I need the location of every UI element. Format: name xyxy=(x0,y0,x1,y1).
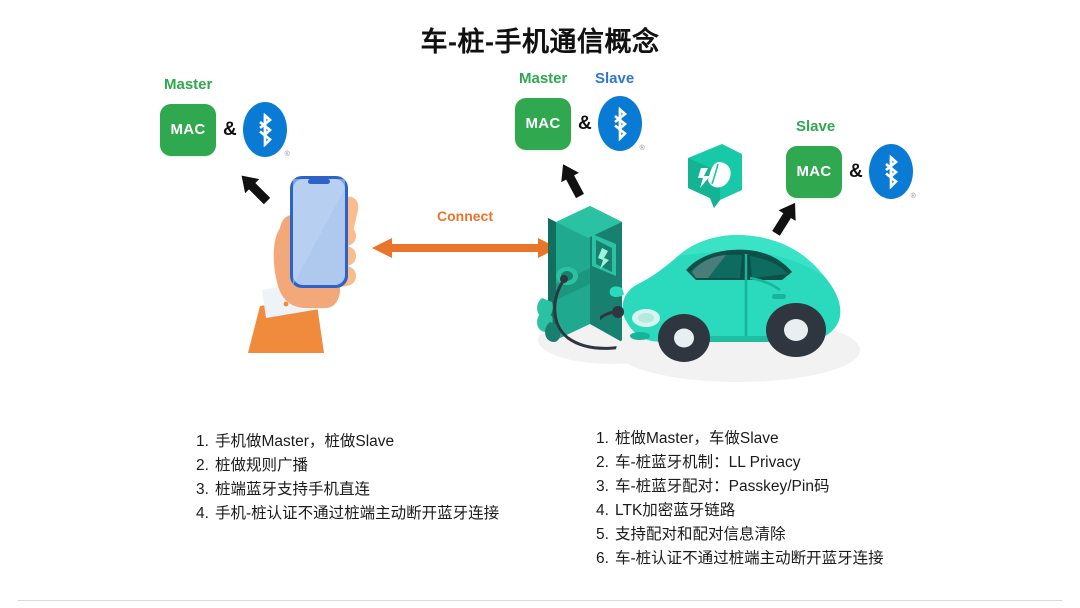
list-item: 2.车-桩蓝牙机制：LL Privacy xyxy=(596,451,884,475)
list-item: 4.LTK加密蓝牙链路 xyxy=(596,499,884,523)
list-item-text: 车-桩蓝牙机制：LL Privacy xyxy=(615,454,800,471)
car-badge-row: MAC & ® xyxy=(786,144,913,199)
list-item-number: 1. xyxy=(196,430,215,454)
connect-indicator: Connect xyxy=(370,208,560,263)
slide-canvas: 车-桩-手机通信概念 Master MAC & ® Master Slave xyxy=(0,0,1080,608)
bluetooth-icon: ® xyxy=(243,102,287,157)
hand-holding-phone-illustration xyxy=(248,168,388,358)
car-mac-label: MAC xyxy=(796,163,831,180)
charger-role-master: Master xyxy=(519,70,567,88)
list-item-text: 桩端蓝牙支持手机直连 xyxy=(215,481,370,498)
registered-mark: ® xyxy=(285,151,290,158)
connect-label: Connect xyxy=(370,208,560,224)
car-mac-box: MAC xyxy=(786,146,842,198)
phone-role-labels: Master xyxy=(160,76,287,96)
list-item: 2.桩做规则广播 xyxy=(196,454,499,478)
list-item-number: 3. xyxy=(196,478,215,502)
list-item: 3.车-桩蓝牙配对：Passkey/Pin码 xyxy=(596,475,884,499)
phone-ampersand: & xyxy=(223,119,237,141)
bluetooth-icon: ® xyxy=(598,96,642,151)
phone-mac-box: MAC xyxy=(160,104,216,156)
list-item: 3.桩端蓝牙支持手机直连 xyxy=(196,478,499,502)
car-badge-group: Slave MAC & ® xyxy=(786,118,913,199)
charger-mac-label: MAC xyxy=(525,115,560,132)
eco-leaf-bolt-badge-icon xyxy=(676,140,750,217)
car-role-labels: Slave xyxy=(786,118,913,138)
list-item-number: 4. xyxy=(596,499,615,523)
bluetooth-icon: ® xyxy=(869,144,913,199)
list-item: 6.车-桩认证不通过桩端主动断开蓝牙连接 xyxy=(596,547,884,571)
bottom-divider xyxy=(18,600,1062,601)
charger-role-labels: Master Slave xyxy=(515,70,642,90)
charger-role-slave: Slave xyxy=(595,70,634,88)
list-item-number: 2. xyxy=(196,454,215,478)
charger-mac-box: MAC xyxy=(515,98,571,150)
list-item-text: 手机做Master，桩做Slave xyxy=(215,433,394,450)
list-item-number: 5. xyxy=(596,523,615,547)
phone-badge-row: MAC & ® xyxy=(160,102,287,157)
page-title: 车-桩-手机通信概念 xyxy=(0,20,1080,59)
charger-badge-group: Master Slave MAC & ® xyxy=(515,70,642,151)
list-item-text: 支持配对和配对信息清除 xyxy=(615,526,786,543)
charger-ampersand: & xyxy=(578,113,592,135)
list-item-number: 1. xyxy=(596,427,615,451)
charger-badge-row: MAC & ® xyxy=(515,96,642,151)
list-item: 4.手机-桩认证不通过桩端主动断开蓝牙连接 xyxy=(196,502,499,526)
list-item-text: 手机-桩认证不通过桩端主动断开蓝牙连接 xyxy=(215,505,499,522)
list-item-number: 4. xyxy=(196,502,215,526)
list-item: 1.手机做Master，桩做Slave xyxy=(196,430,499,454)
list-item-number: 6. xyxy=(596,547,615,571)
list-item: 1.桩做Master，车做Slave xyxy=(596,427,884,451)
registered-mark: ® xyxy=(640,145,645,152)
phone-badge-group: Master MAC & ® xyxy=(160,76,287,157)
list-item-text: 车-桩认证不通过桩端主动断开蓝牙连接 xyxy=(615,550,884,567)
list-item-text: 桩做Master，车做Slave xyxy=(615,430,779,447)
list-item-number: 3. xyxy=(596,475,615,499)
car-role-slave: Slave xyxy=(796,118,835,136)
list-item: 5.支持配对和配对信息清除 xyxy=(596,523,884,547)
registered-mark: ® xyxy=(911,193,916,200)
left-bullet-list: 1.手机做Master，桩做Slave 2.桩做规则广播 3.桩端蓝牙支持手机直… xyxy=(196,430,499,526)
electric-car-illustration xyxy=(600,218,870,393)
list-item-text: 桩做规则广播 xyxy=(215,457,308,474)
list-item-text: 车-桩蓝牙配对：Passkey/Pin码 xyxy=(615,478,829,495)
list-item-number: 2. xyxy=(596,451,615,475)
phone-role-master: Master xyxy=(164,76,212,94)
list-item-text: LTK加密蓝牙链路 xyxy=(615,502,735,519)
car-ampersand: & xyxy=(849,161,863,183)
right-bullet-list: 1.桩做Master，车做Slave 2.车-桩蓝牙机制：LL Privacy … xyxy=(596,427,884,571)
phone-mac-label: MAC xyxy=(170,121,205,138)
connect-double-arrow-icon xyxy=(372,234,558,267)
